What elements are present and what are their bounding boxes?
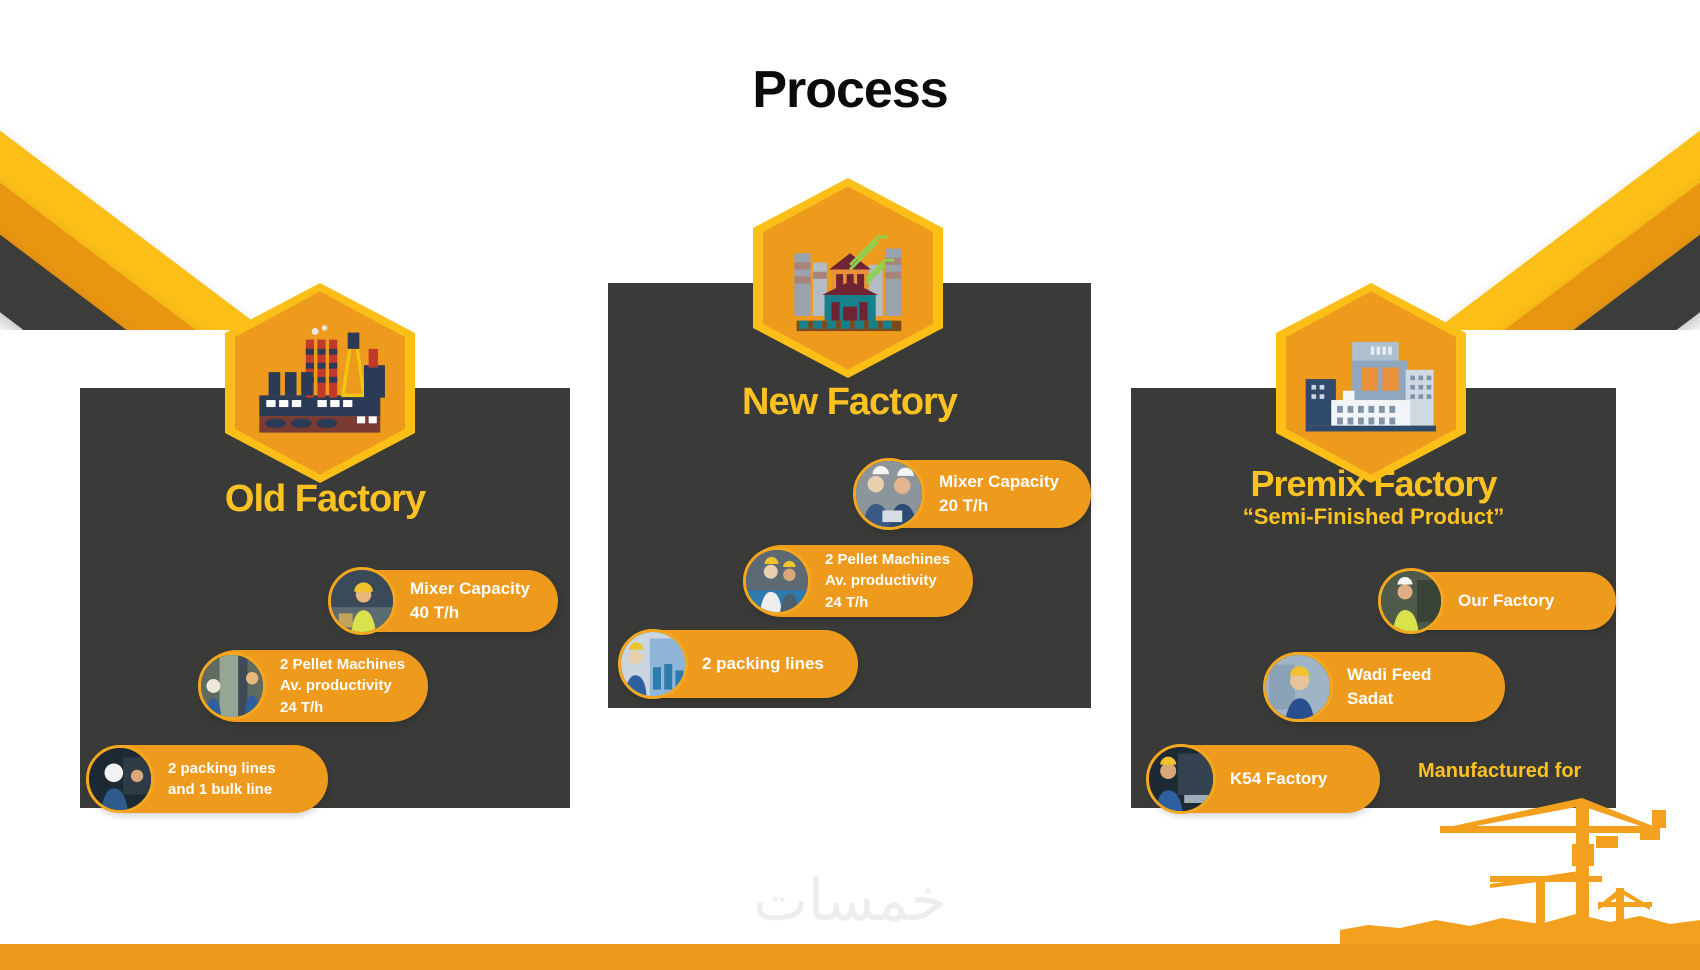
machine-operators-photo: [746, 550, 808, 612]
info-pill[interactable]: Wadi Feed Sadat: [1265, 652, 1505, 722]
panel-subtitle-premix: “Semi-Finished Product”: [1131, 505, 1616, 528]
pill-text: Mixer Capacity 40 T/h: [396, 577, 550, 625]
bottling-plant-photo: [621, 632, 685, 696]
corner-ribbon-left: [0, 0, 420, 330]
footer-accent-bar: [0, 944, 1700, 970]
hexagon-outer: [225, 283, 415, 483]
info-pill[interactable]: Our Factory: [1380, 572, 1616, 630]
info-pill[interactable]: 2 packing lines: [620, 630, 858, 698]
pill-text: Wadi Feed Sadat: [1333, 663, 1451, 711]
info-pill[interactable]: Mixer Capacity 40 T/h: [330, 570, 558, 632]
pill-thumbnail: [1146, 744, 1216, 814]
packing-line-worker-photo: [89, 748, 151, 810]
pill-text: K54 Factory: [1216, 767, 1347, 791]
pill-thumbnail: [328, 567, 396, 635]
pellet-machine-workers-photo: [201, 655, 263, 717]
hexagon-inner: [763, 186, 933, 369]
pill-text: 2 Pellet Machines Av. productivity 24 T/…: [811, 549, 970, 613]
pill-thumbnail: [618, 629, 688, 699]
pill-text: 2 packing lines and 1 bulk line: [154, 758, 296, 801]
hexagon-inner: [1286, 291, 1456, 474]
pill-thumbnail: [853, 458, 925, 530]
hexagon-inner: [235, 291, 405, 474]
hex-badge-premix-factory: [1276, 283, 1466, 483]
pill-thumbnail: [743, 547, 811, 615]
engineers-tablet-photo: [856, 461, 922, 527]
info-pill[interactable]: 2 packing lines and 1 bulk line: [88, 745, 328, 813]
worker-forklift-photo: [331, 570, 393, 632]
panel-title-new: New Factory: [608, 383, 1091, 422]
manufactured-for-caption: Manufactured for: [1418, 760, 1581, 783]
pill-thumbnail: [198, 652, 266, 720]
pill-thumbnail: [1378, 568, 1444, 634]
yellow-helmet-worker-photo: [1266, 655, 1330, 719]
pill-thumbnail: [1263, 652, 1333, 722]
pill-thumbnail: [86, 745, 154, 813]
pill-text: 2 packing lines: [688, 652, 844, 676]
corner-ribbon-right: [1280, 0, 1700, 330]
pill-text: Our Factory: [1444, 589, 1574, 613]
page-title: Process: [0, 60, 1700, 120]
info-pill[interactable]: Mixer Capacity 20 T/h: [855, 460, 1091, 528]
hexagon-outer: [753, 178, 943, 378]
info-pill[interactable]: 2 Pellet Machines Av. productivity 24 T/…: [745, 545, 973, 617]
panel-title-old: Old Factory: [80, 480, 570, 519]
pill-text: 2 Pellet Machines Av. productivity 24 T/…: [266, 654, 425, 718]
hexagon-outer: [1276, 283, 1466, 483]
technician-helmet-photo: [1381, 571, 1441, 631]
hex-badge-old-factory: [225, 283, 415, 483]
cnc-operator-photo: [1149, 747, 1213, 811]
info-pill[interactable]: 2 Pellet Machines Av. productivity 24 T/…: [200, 650, 428, 722]
hex-badge-new-factory: [753, 178, 943, 378]
construction-crane-icon: [1340, 784, 1700, 944]
pill-text: Mixer Capacity 20 T/h: [925, 470, 1079, 518]
